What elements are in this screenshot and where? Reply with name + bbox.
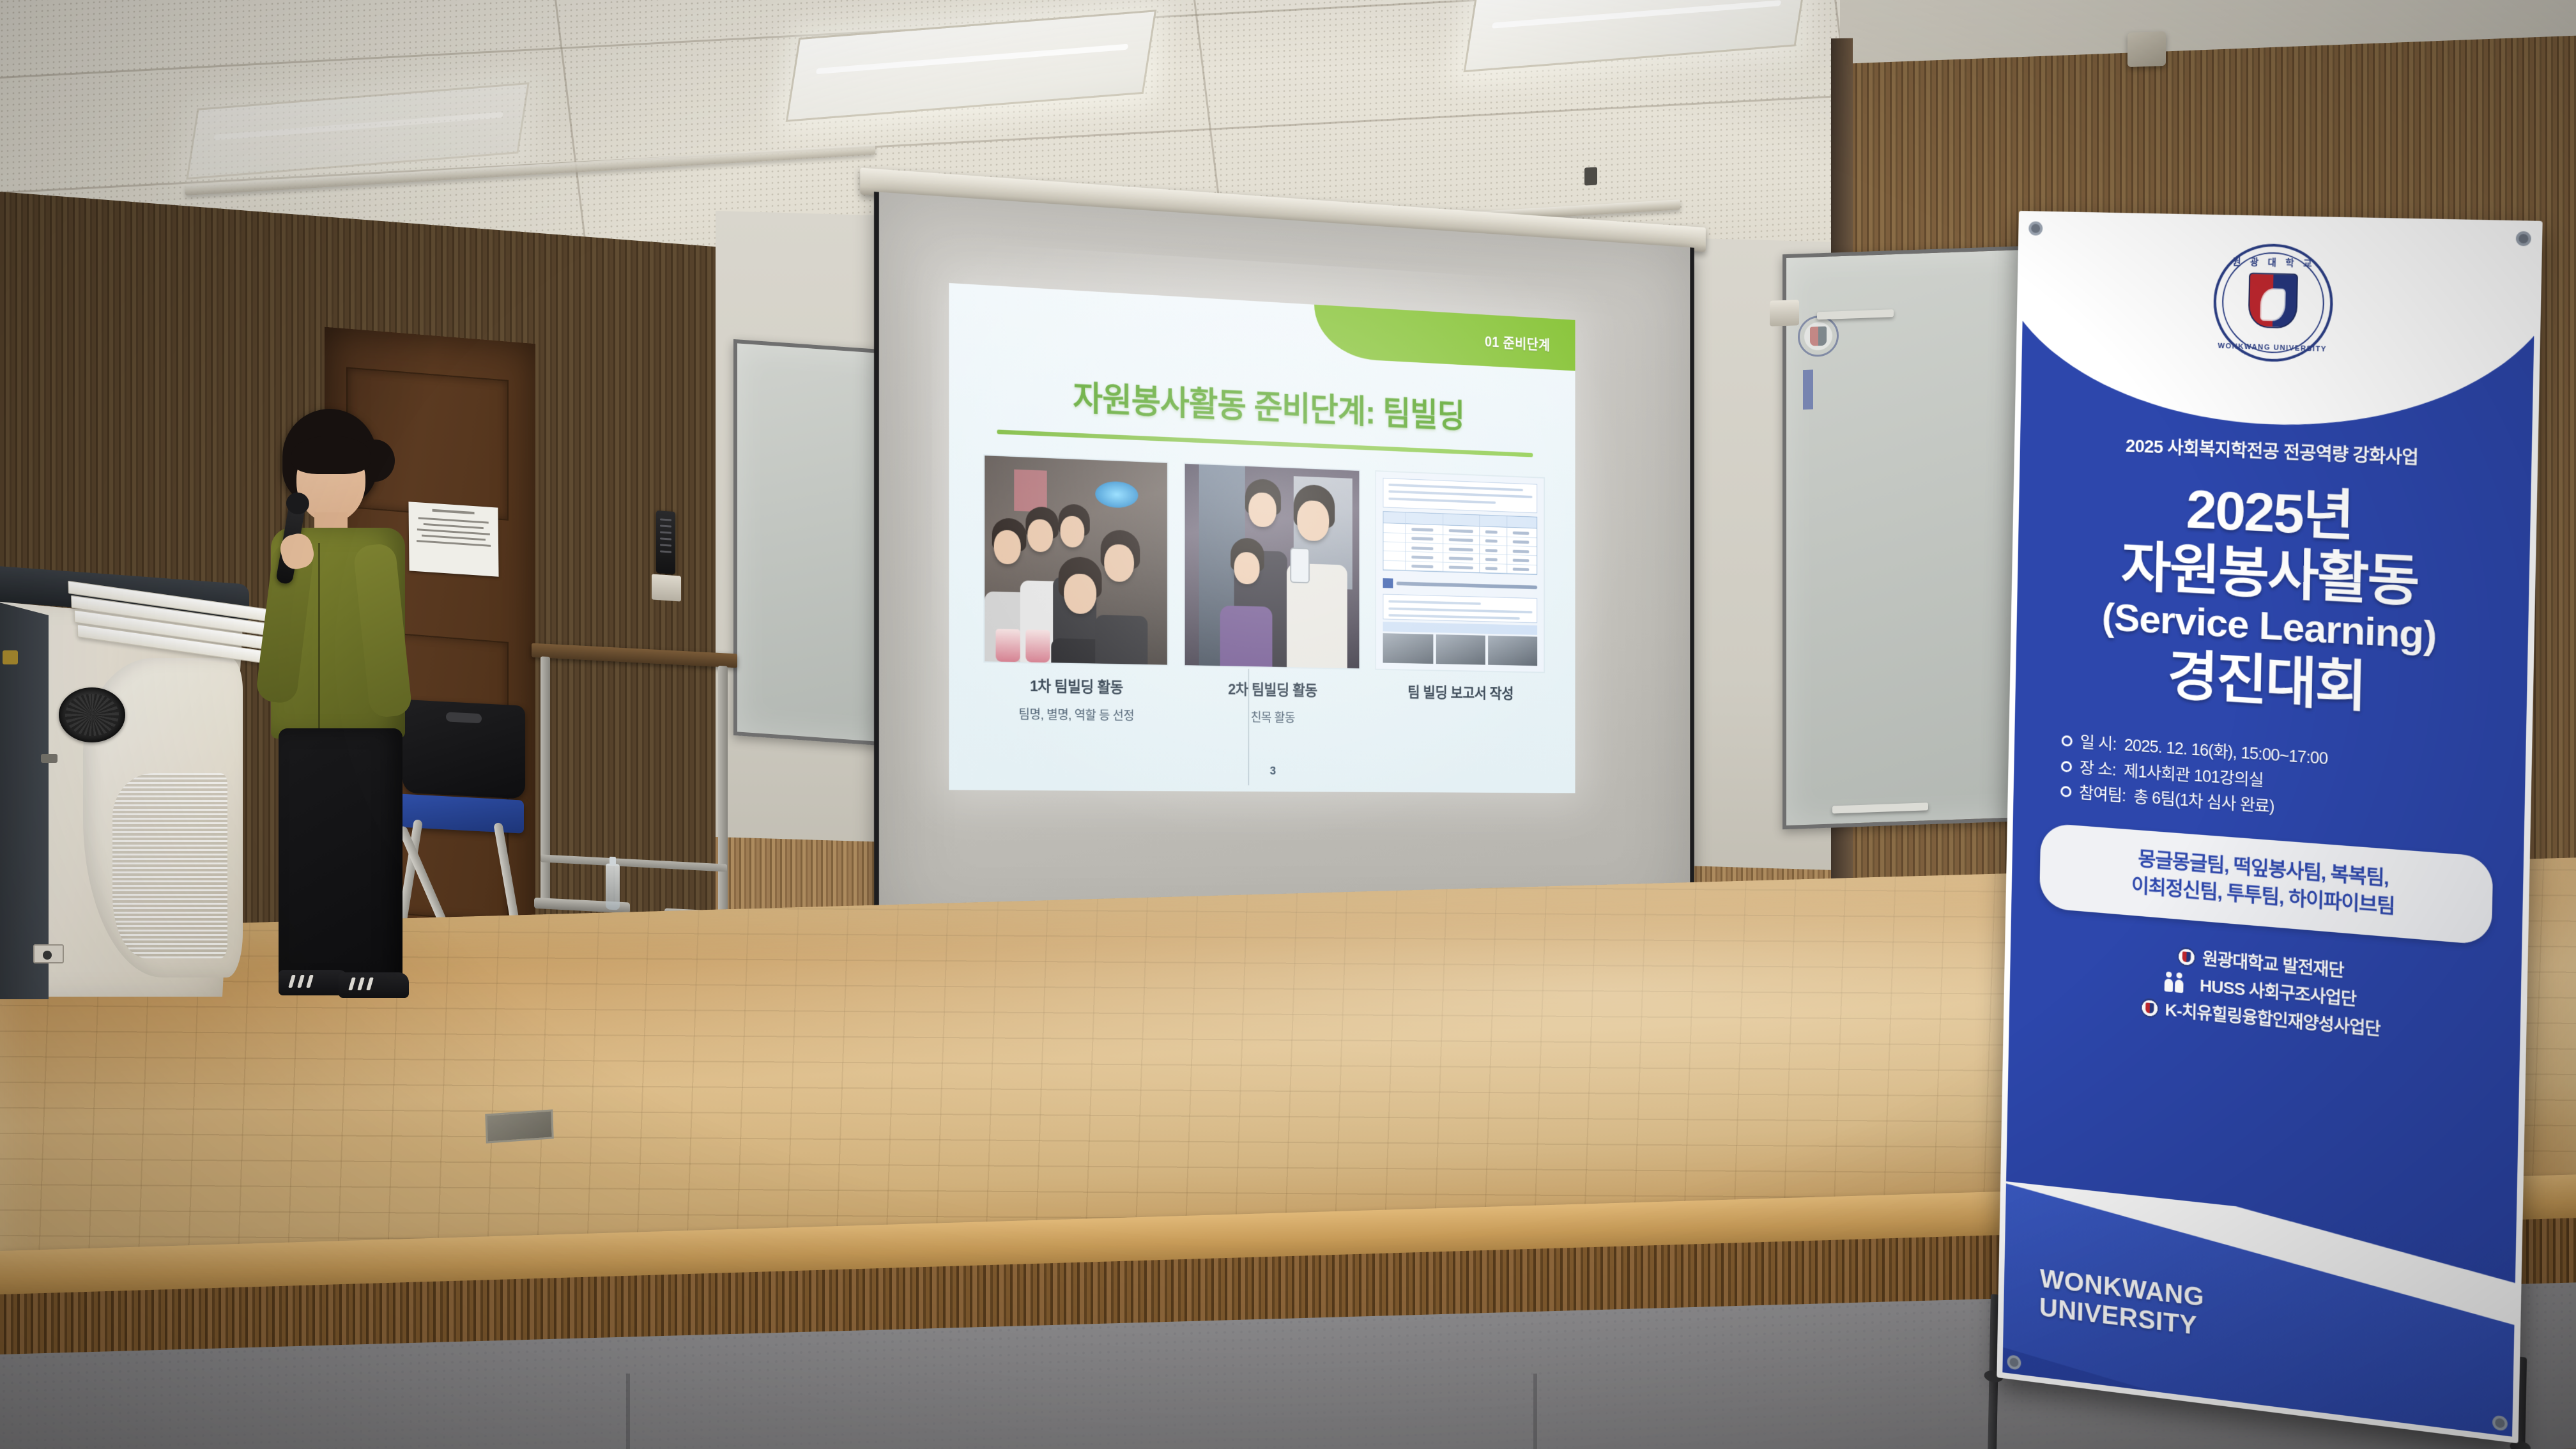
lecture-hall-photo: 01 준비단계 자원봉사활동 준비단계: 팀빌딩 (0, 0, 2576, 1449)
screen-surface: 01 준비단계 자원봉사활동 준비단계: 팀빌딩 (874, 192, 1694, 946)
bullet-icon (2062, 735, 2073, 747)
slide-panel-row (983, 454, 1545, 673)
slide-photo-teambuilding-2 (1183, 463, 1360, 670)
university-crest-icon (2140, 997, 2159, 1018)
wall-outlet (652, 574, 681, 601)
presenter-shoe (339, 972, 409, 998)
lectern-rib-texture (112, 773, 227, 958)
lectern-control-plate[interactable] (33, 944, 64, 963)
banner-info-list: 일 시: 2025. 12. 16(화), 15:00~17:00 장 소: 제… (2060, 729, 2526, 839)
lectern-button[interactable] (41, 754, 57, 763)
university-crest-icon (2177, 946, 2196, 967)
lectern-speaker-grille (59, 687, 125, 742)
presentation-slide: 01 준비단계 자원봉사활동 준비단계: 팀빌딩 (949, 283, 1575, 793)
university-logo-sticker (1798, 315, 1839, 357)
presenter-button-placket (318, 543, 320, 728)
banner-frame: 원 광 대 학 교 WONKWANG UNIVERSITY 2025 사회복지학… (1997, 211, 2542, 1443)
slide-caption-3: 팀 빌딩 보고서 작성 (1375, 680, 1545, 748)
banner-subtitle: 2025 사회복지학전공 전공역량 강화사업 (2020, 427, 2532, 473)
banner-team-list: 몽글몽글팀, 떡잎봉사팀, 복복팀, 이최정신팀, 투투팀, 하이파이브팀 (2039, 822, 2494, 945)
crest-korean-text: 원 광 대 학 교 (2232, 255, 2315, 270)
caption-subtitle: 친목 활동 (1183, 707, 1360, 726)
projection-screen: 01 준비단계 자원봉사활동 준비단계: 팀빌딩 (874, 192, 1694, 946)
slide-caption-2: 2차 팀빌딩 활동 친목 활동 (1183, 676, 1360, 746)
blue-label-sticker (1803, 370, 1813, 410)
caption-title: 팀 빌딩 보고서 작성 (1375, 680, 1545, 703)
lectern-badge (3, 650, 18, 664)
slide-report-document (1375, 470, 1545, 673)
banner-body: 원 광 대 학 교 WONKWANG UNIVERSITY 2025 사회복지학… (2002, 217, 2536, 1436)
rail-clip (1584, 167, 1597, 185)
slide-photo-teambuilding-1 (983, 454, 1168, 666)
caption-subtitle: 팀명, 별명, 역할 등 선정 (983, 703, 1168, 724)
door-notice-paper (408, 502, 498, 576)
huss-logo-icon (2165, 973, 2193, 993)
slide-page-number: 3 (949, 762, 1575, 780)
wall-intercom-phone[interactable] (656, 510, 675, 574)
marker-tray (1832, 802, 1928, 813)
caption-subtitle (1375, 709, 1545, 712)
lectern-podium (0, 562, 262, 1009)
slide-section-label: 01 준비단계 (1485, 330, 1551, 354)
bullet-icon (2060, 786, 2071, 797)
presenter-pants (279, 728, 402, 984)
slide-section-tab: 01 준비단계 (1314, 305, 1575, 371)
event-banner: 원 광 대 학 교 WONKWANG UNIVERSITY 2025 사회복지학… (1997, 211, 2542, 1443)
floor-seam (1533, 1374, 1537, 1449)
banner-info-label: 일 시: (2080, 730, 2117, 758)
side-table (532, 643, 737, 935)
presenter (243, 409, 422, 1003)
water-bottle (606, 863, 620, 910)
whiteboard-mount (1770, 300, 1799, 326)
wall-speaker (2127, 31, 2166, 67)
marker-tray (1817, 309, 1894, 319)
slide-caption-1: 1차 팀빌딩 활동 팀명, 별명, 역할 등 선정 (983, 673, 1168, 744)
floor-outlet-hatch (485, 1109, 554, 1143)
bullet-icon (2061, 760, 2072, 772)
banner-info-label: 장 소: (2080, 755, 2117, 783)
banner-info-label: 참여팀: (2079, 781, 2126, 809)
slide-caption-row: 1차 팀빌딩 활동 팀명, 별명, 역할 등 선정 2차 팀빌딩 활동 친목 활… (983, 673, 1545, 748)
presenter-fringe (291, 436, 371, 474)
slide-title: 자원봉사활동 준비단계: 팀빌딩 (949, 364, 1575, 443)
caption-title: 1차 팀빌딩 활동 (983, 673, 1168, 698)
banner-organizations: 원광대학교 발전재단 HUSS 사회구조사업단 K-치유힐링융합인재양성사업단 (2009, 928, 2521, 1056)
floor-seam (626, 1374, 630, 1449)
caption-title: 2차 팀빌딩 활동 (1183, 676, 1360, 700)
